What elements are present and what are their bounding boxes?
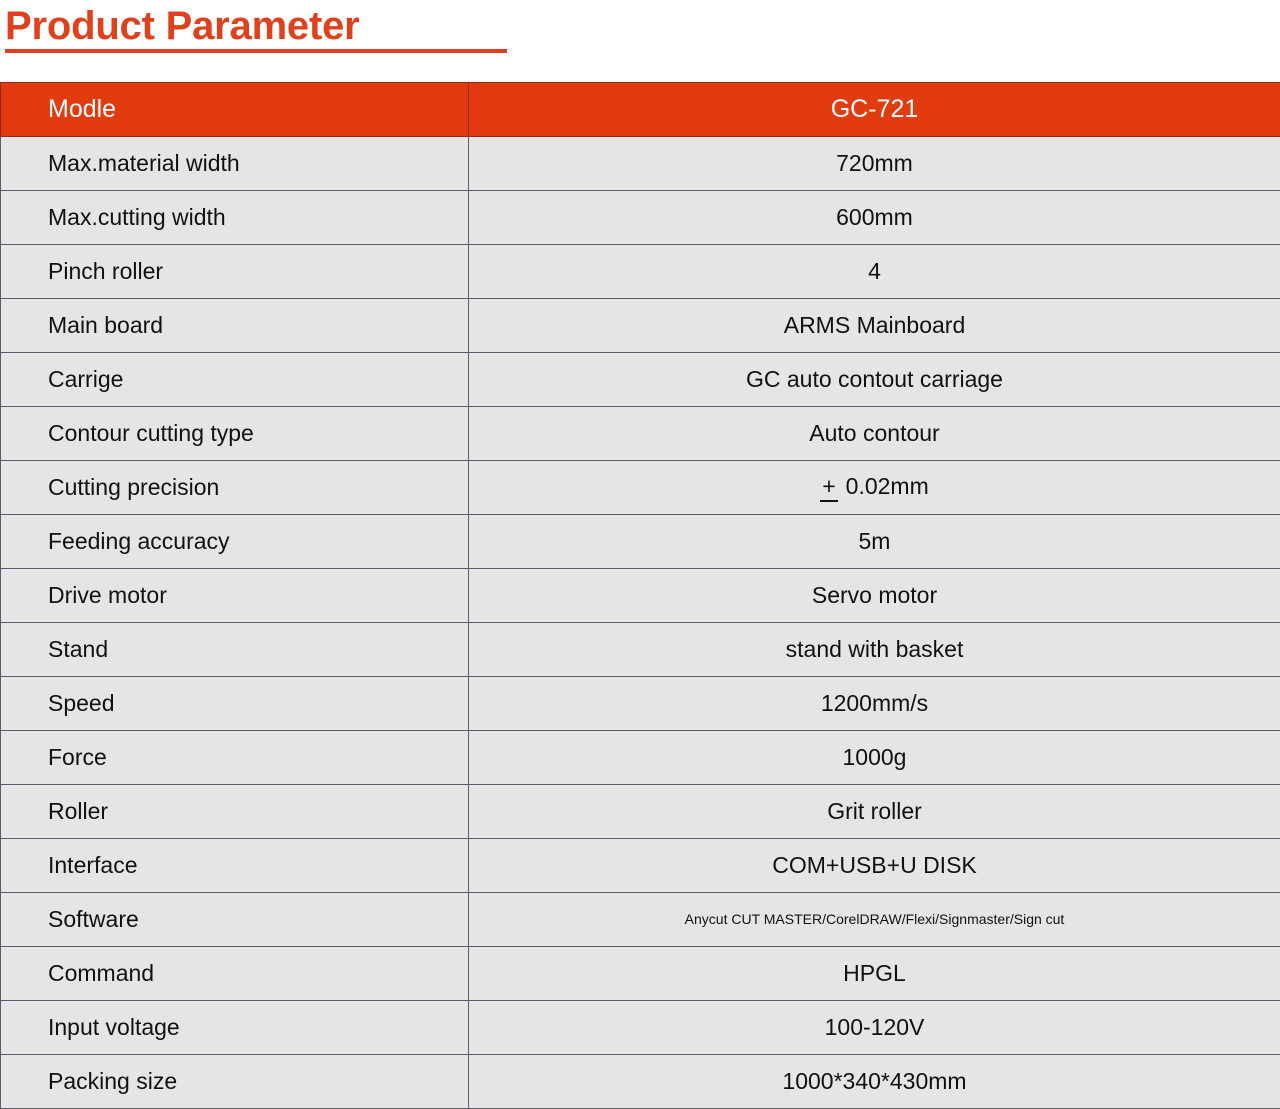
row-label: Contour cutting type bbox=[1, 407, 469, 461]
row-label: Max.material width bbox=[1, 137, 469, 191]
row-value: stand with basket bbox=[469, 623, 1280, 677]
table-header-row: Modle GC-721 bbox=[1, 83, 1280, 137]
row-value: Auto contour bbox=[469, 407, 1280, 461]
row-label: Software bbox=[1, 893, 469, 947]
table-row: Max.cutting width600mm bbox=[1, 191, 1280, 245]
row-value: +0.02mm bbox=[469, 461, 1280, 515]
title-underline bbox=[5, 49, 507, 53]
row-label: Carrige bbox=[1, 353, 469, 407]
table-row: RollerGrit roller bbox=[1, 785, 1280, 839]
row-value: 1200mm/s bbox=[469, 677, 1280, 731]
row-value: 1000*340*430mm bbox=[469, 1055, 1280, 1109]
row-value: ARMS Mainboard bbox=[469, 299, 1280, 353]
row-value: 720mm bbox=[469, 137, 1280, 191]
row-label: Cutting precision bbox=[1, 461, 469, 515]
table-row: Cutting precision+0.02mm bbox=[1, 461, 1280, 515]
table-row: Drive motorServo motor bbox=[1, 569, 1280, 623]
row-value: HPGL bbox=[469, 947, 1280, 1001]
row-value: GC auto contout carriage bbox=[469, 353, 1280, 407]
row-label: Stand bbox=[1, 623, 469, 677]
row-value-text: 0.02mm bbox=[846, 473, 929, 499]
product-parameter-table: Modle GC-721 Max.material width720mmMax.… bbox=[0, 82, 1280, 1109]
table-row: InterfaceCOM+USB+U DISK bbox=[1, 839, 1280, 893]
row-label: Packing size bbox=[1, 1055, 469, 1109]
product-parameter-page: Product Parameter Modle GC-721 Max.mater… bbox=[0, 0, 1280, 1108]
row-label: Drive motor bbox=[1, 569, 469, 623]
table-row: Contour cutting typeAuto contour bbox=[1, 407, 1280, 461]
row-label: Command bbox=[1, 947, 469, 1001]
page-title: Product Parameter bbox=[5, 0, 525, 49]
table-row: CarrigeGC auto contout carriage bbox=[1, 353, 1280, 407]
table-row: Speed1200mm/s bbox=[1, 677, 1280, 731]
table-row: Packing size1000*340*430mm bbox=[1, 1055, 1280, 1109]
row-value: COM+USB+U DISK bbox=[469, 839, 1280, 893]
row-label: Speed bbox=[1, 677, 469, 731]
row-value: 4 bbox=[469, 245, 1280, 299]
table-row: SoftwareAnycut CUT MASTER/CorelDRAW/Flex… bbox=[1, 893, 1280, 947]
table-row: Pinch roller4 bbox=[1, 245, 1280, 299]
row-value: Anycut CUT MASTER/CorelDRAW/Flexi/Signma… bbox=[469, 893, 1280, 947]
row-value: 600mm bbox=[469, 191, 1280, 245]
table-row: CommandHPGL bbox=[1, 947, 1280, 1001]
row-value: 1000g bbox=[469, 731, 1280, 785]
row-label: Input voltage bbox=[1, 1001, 469, 1055]
row-value: Servo motor bbox=[469, 569, 1280, 623]
table-row: Max.material width720mm bbox=[1, 137, 1280, 191]
table-body: Modle GC-721 Max.material width720mmMax.… bbox=[1, 83, 1280, 1109]
row-label: Pinch roller bbox=[1, 245, 469, 299]
plus-minus-icon: + bbox=[820, 476, 837, 502]
header-cell-value: GC-721 bbox=[469, 83, 1280, 137]
row-value: Grit roller bbox=[469, 785, 1280, 839]
row-label: Main board bbox=[1, 299, 469, 353]
row-value: 5m bbox=[469, 515, 1280, 569]
table-row: Standstand with basket bbox=[1, 623, 1280, 677]
table-row: Force1000g bbox=[1, 731, 1280, 785]
row-label: Feeding accuracy bbox=[1, 515, 469, 569]
row-label: Interface bbox=[1, 839, 469, 893]
table-row: Main boardARMS Mainboard bbox=[1, 299, 1280, 353]
table-row: Feeding accuracy5m bbox=[1, 515, 1280, 569]
row-label: Force bbox=[1, 731, 469, 785]
row-label: Max.cutting width bbox=[1, 191, 469, 245]
row-value: 100-120V bbox=[469, 1001, 1280, 1055]
title-block: Product Parameter bbox=[5, 0, 525, 78]
table-row: Input voltage100-120V bbox=[1, 1001, 1280, 1055]
header-cell-label: Modle bbox=[1, 83, 469, 137]
row-label: Roller bbox=[1, 785, 469, 839]
